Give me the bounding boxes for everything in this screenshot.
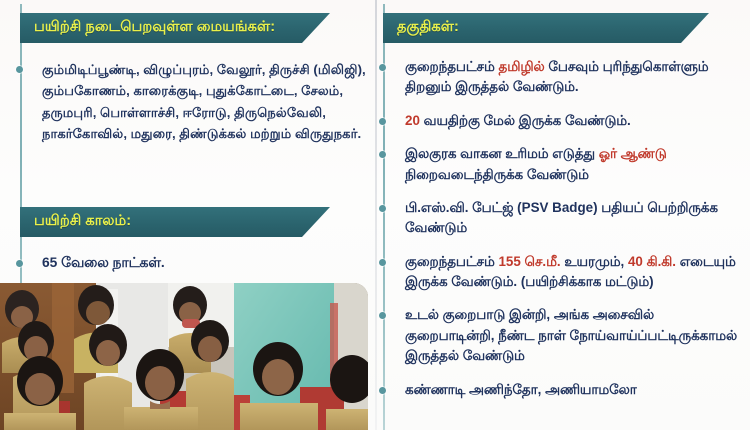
text-run: உடல் குறைபாடு இன்றி, அங்க அசைவில் குறைபா… (405, 307, 737, 363)
list-item: குறைந்தபட்சம் 155 செ.மீ. உயரமும், 40 கி.… (383, 252, 743, 293)
eligibility-text-psv-badge: பி.எஸ்.வி. பேட்ஜ் (PSV Badge) பதியப் பெற… (405, 198, 743, 239)
eligibility-text-age: 20 வயதிற்கு மேல் இருக்க வேண்டும். (405, 111, 743, 131)
eligibility-text-health: உடல் குறைபாடு இன்றி, அங்க அசைவில் குறைபா… (405, 305, 743, 366)
eligibility-text-language: குறைந்தபட்சம் தமிழில் பேசவும் புரிந்துகொ… (405, 57, 743, 98)
text-run: பி.எஸ்.வி. பேட்ஜ் (PSV Badge) பதியப் பெற… (405, 200, 718, 235)
training-centres-text: கும்மிடிப்பூண்டி, விழுப்புரம், வேலூர், த… (42, 59, 370, 145)
banner-training-duration-label: பயிற்சி காலம்: (20, 213, 131, 231)
left-column: பயிற்சி நடைபெறவுள்ள மையங்கள்: கும்மிடிப்… (0, 0, 375, 430)
training-session-photo: Women trainees in khaki uniforms seated … (0, 283, 368, 430)
list-item: 65 வேலை நாட்கள். (20, 253, 370, 274)
list-item: கண்ணாடி அணிந்தோ, அணியாமலோ (383, 380, 743, 400)
banner-eligibility: தகுதிகள்: (383, 13, 709, 43)
highlighted-run: 40 கி.கி. (628, 254, 676, 269)
eligibility-list: குறைந்தபட்சம் தமிழில் பேசவும் புரிந்துகொ… (383, 57, 743, 400)
text-run: வயதிற்கு மேல் இருக்க வேண்டும். (420, 113, 631, 128)
bullet-dot-icon (379, 118, 386, 125)
banner-training-centres-label: பயிற்சி நடைபெறவுள்ள மையங்கள்: (20, 19, 275, 37)
right-column: தகுதிகள்: குறைந்தபட்சம் தமிழில் பேசவும் … (375, 0, 750, 430)
bullet-dot-icon (379, 312, 386, 319)
list-item: இலகுரக வாகன உரிமம் எடுத்து ஓர் ஆண்டு நிற… (383, 144, 743, 185)
text-run: நிறைவடைந்திருக்க வேண்டும் (405, 167, 589, 182)
training-duration-list: 65 வேலை நாட்கள். (20, 253, 370, 274)
banner-training-centres: பயிற்சி நடைபெறவுள்ள மையங்கள்: (20, 13, 330, 43)
text-run: இலகுரக வாகன உரிமம் எடுத்து (405, 146, 599, 161)
highlighted-run: ஓர் ஆண்டு (599, 146, 667, 161)
banner-training-duration: பயிற்சி காலம்: (20, 207, 330, 237)
eligibility-text-licence: இலகுரக வாகன உரிமம் எடுத்து ஓர் ஆண்டு நிற… (405, 144, 743, 185)
list-item: உடல் குறைபாடு இன்றி, அங்க அசைவில் குறைபா… (383, 305, 743, 366)
list-item: பி.எஸ்.வி. பேட்ஜ் (PSV Badge) பதியப் பெற… (383, 198, 743, 239)
training-centres-list: கும்மிடிப்பூண்டி, விழுப்புரம், வேலூர், த… (20, 59, 370, 145)
bullet-dot-icon (379, 259, 386, 266)
text-run: கண்ணாடி அணிந்தோ, அணியாமலோ (405, 382, 637, 397)
highlighted-run: 20 (405, 113, 420, 128)
highlighted-run: தமிழில் (498, 59, 544, 74)
list-item: குறைந்தபட்சம் தமிழில் பேசவும் புரிந்துகொ… (383, 57, 743, 98)
bullet-dot-icon (16, 260, 23, 267)
eligibility-text-height-weight: குறைந்தபட்சம் 155 செ.மீ. உயரமும், 40 கி.… (405, 252, 743, 293)
photo-illustration (0, 283, 368, 430)
training-duration-text: 65 வேலை நாட்கள். (42, 253, 370, 274)
bullet-dot-icon (379, 387, 386, 394)
bullet-dot-icon (16, 66, 23, 73)
highlighted-run: 155 செ.மீ. (498, 254, 560, 269)
list-item: 20 வயதிற்கு மேல் இருக்க வேண்டும். (383, 111, 743, 131)
list-item: கும்மிடிப்பூண்டி, விழுப்புரம், வேலூர், த… (20, 59, 370, 145)
bullet-dot-icon (379, 151, 386, 158)
slide-canvas: பயிற்சி நடைபெறவுள்ள மையங்கள்: கும்மிடிப்… (0, 0, 750, 430)
text-run: உயரமும், (561, 254, 628, 269)
text-run: குறைந்தபட்சம் (405, 254, 498, 269)
eligibility-text-vision: கண்ணாடி அணிந்தோ, அணியாமலோ (405, 380, 743, 400)
bullet-dot-icon (379, 64, 386, 71)
text-run: குறைந்தபட்சம் (405, 59, 498, 74)
text-run: 65 வேலை நாட்கள். (42, 255, 165, 270)
bullet-dot-icon (379, 205, 386, 212)
text-run: கும்மிடிப்பூண்டி, விழுப்புரம், வேலூர், த… (42, 62, 366, 141)
banner-eligibility-label: தகுதிகள்: (383, 19, 459, 37)
